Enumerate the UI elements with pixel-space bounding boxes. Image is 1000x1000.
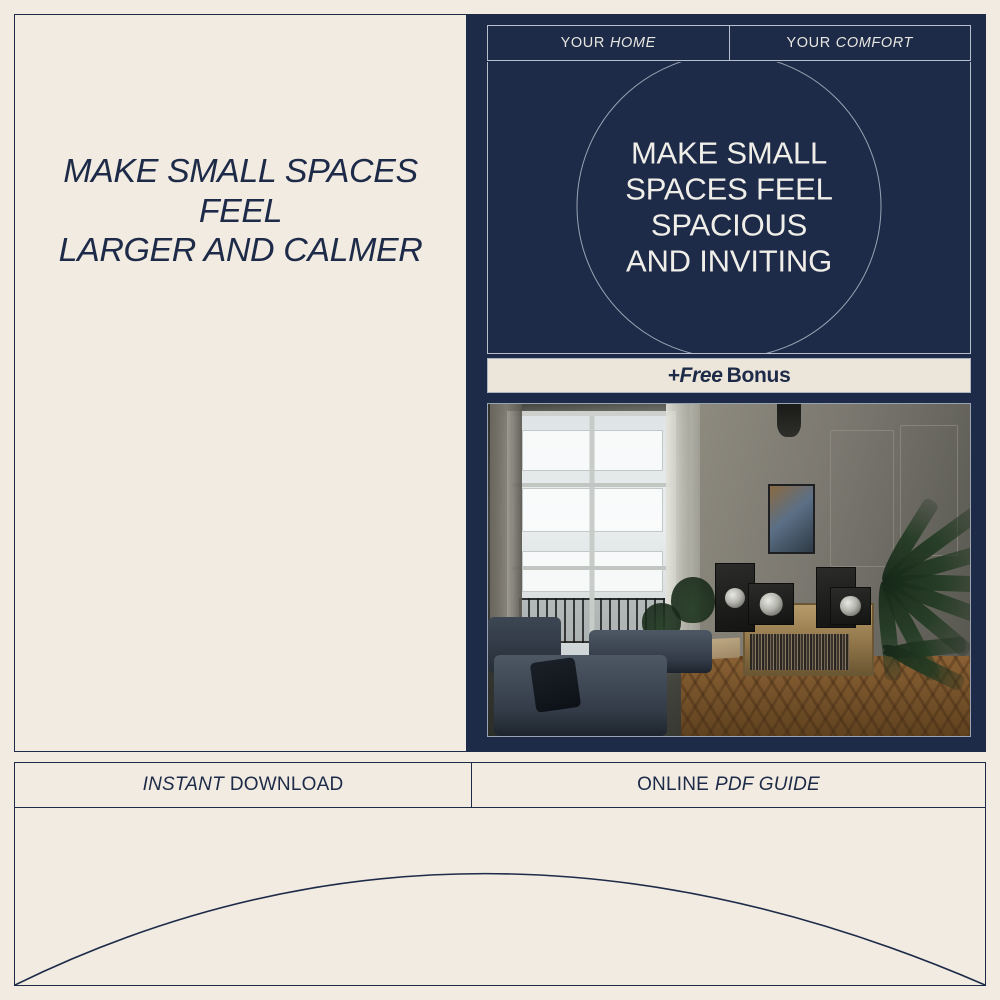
arc-decoration [15, 808, 985, 985]
bottom-nav-pdf-guide-emphasis: PDF GUIDE [715, 774, 820, 796]
offer-card: YOUR HOME YOUR COMFORT MAKE SMALL SPACES… [467, 15, 985, 751]
card-nav-item-comfort[interactable]: YOUR COMFORT [729, 26, 971, 60]
bottom-nav-item-online-pdf-guide[interactable]: ONLINE PDF GUIDE [471, 763, 985, 807]
arc-path [15, 874, 985, 985]
top-section: MAKE SMALL SPACES FEEL LARGER AND CALMER… [14, 14, 986, 752]
arc-decoration-wrap [15, 808, 985, 985]
card-nav-item-home[interactable]: YOUR HOME [488, 26, 729, 60]
photo-sofa-cushion [529, 657, 580, 713]
card-nav-item-home-lead: YOUR [561, 35, 605, 51]
bottom-nav-instant-emphasis: INSTANT [143, 774, 224, 796]
card-nav-item-home-emphasis: HOME [605, 35, 656, 51]
free-bonus-emphasis: +Free [668, 364, 727, 388]
card-headline: MAKE SMALL SPACES FEEL SPACIOUS AND INVI… [488, 135, 970, 280]
page-title: MAKE SMALL SPACES FEEL LARGER AND CALMER [14, 151, 473, 270]
photo-window-rail [512, 566, 671, 570]
free-bonus-label: Bonus [727, 364, 791, 388]
room-photo-frame [487, 403, 971, 737]
card-nav: YOUR HOME YOUR COMFORT [487, 25, 971, 61]
bottom-nav-item-instant-download[interactable]: INSTANT DOWNLOAD [15, 763, 471, 807]
free-bonus-badge[interactable]: +Free Bonus [487, 358, 971, 393]
photo-sectional-sofa [488, 610, 768, 736]
poster-canvas: MAKE SMALL SPACES FEEL LARGER AND CALMER… [0, 0, 1000, 1000]
headline-pane: MAKE SMALL SPACES FEEL LARGER AND CALMER [15, 15, 467, 751]
room-photo [488, 404, 970, 736]
photo-palm-plant [768, 411, 970, 736]
card-body: MAKE SMALL SPACES FEEL SPACIOUS AND INVI… [487, 62, 971, 354]
bottom-nav-online-label: ONLINE [637, 774, 709, 796]
bottom-nav-download-label: DOWNLOAD [230, 774, 344, 796]
photo-sofa-seat [494, 655, 667, 736]
bottom-section: INSTANT DOWNLOAD ONLINE PDF GUIDE [14, 762, 986, 986]
photo-window-rail [512, 483, 671, 487]
bottom-nav: INSTANT DOWNLOAD ONLINE PDF GUIDE [15, 763, 985, 808]
card-nav-item-comfort-lead: YOUR [786, 35, 830, 51]
card-nav-item-comfort-emphasis: COMFORT [831, 35, 913, 51]
photo-speaker-cone [725, 588, 745, 608]
